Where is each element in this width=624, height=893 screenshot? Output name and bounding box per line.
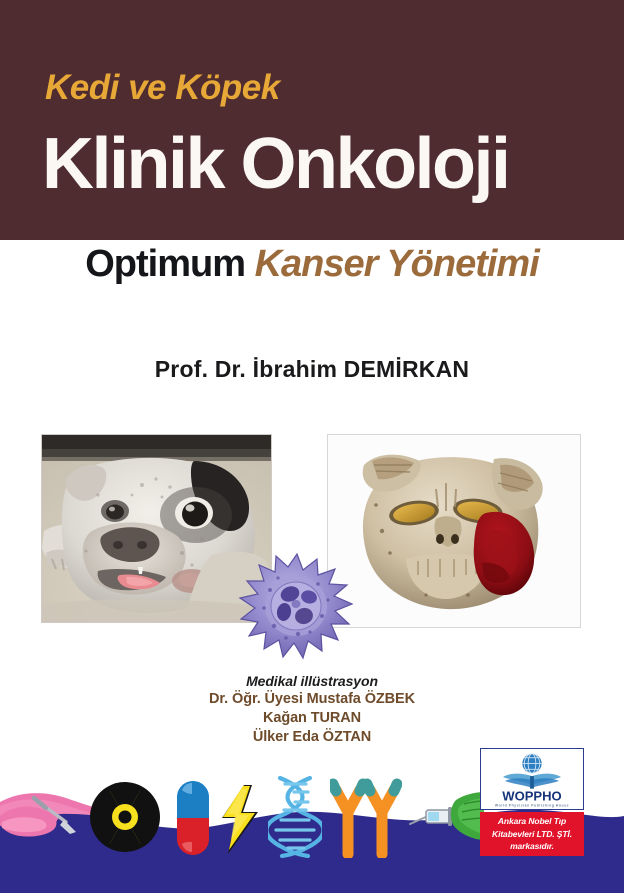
- cat-ct-photo: [327, 434, 581, 628]
- gloved-hand-syringe-icon: [404, 786, 484, 846]
- cover-subtitle-part1: Optimum: [85, 243, 245, 285]
- publisher-banner-line-3: markasıdır.: [480, 840, 584, 853]
- cover-subtitle-part2: Kanser Yönetimi: [255, 243, 539, 285]
- author-name: Prof. Dr. İbrahim DEMİRKAN: [0, 356, 624, 383]
- book-cover: Kedi ve Köpek Klinik Onkoloji Optimum Ka…: [0, 0, 624, 893]
- pill-capsule-icon: [176, 780, 210, 856]
- publisher-tagline: World Physician Publishing House: [495, 804, 569, 808]
- publisher-banner: Ankara Nobel Tıp Kitabevleri LTD. ŞTİ. m…: [480, 812, 584, 856]
- cancer-cell-illustration: [238, 550, 356, 668]
- cover-kicker: Kedi ve Köpek: [45, 68, 280, 108]
- publisher-banner-line-1: Ankara Nobel Tıp: [480, 815, 584, 828]
- credits-name-2: Kağan TURAN: [0, 709, 624, 728]
- publisher-wordmark: WOPPHO: [502, 788, 561, 803]
- credits-name-1: Dr. Öğr. Üyesi Mustafa ÖZBEK: [0, 690, 624, 709]
- dna-helix-icon: [268, 776, 322, 858]
- credits-name-3: Ülker Eda ÖZTAN: [0, 728, 624, 747]
- page-title: Klinik Onkoloji: [42, 128, 509, 200]
- illustration-credits: Medikal illüstrasyon Dr. Öğr. Üyesi Must…: [0, 672, 624, 747]
- publisher-logo: WOPPHO World Physician Publishing House: [480, 748, 584, 810]
- header-band: [0, 0, 624, 240]
- credits-heading: Medikal illüstrasyon: [0, 672, 624, 690]
- antibody-icon: [330, 778, 402, 858]
- cover-subtitle: Optimum Kanser Yönetimi: [0, 243, 624, 286]
- surgery-hand-scalpel-icon: [0, 792, 92, 842]
- lightning-bolt-icon: [218, 784, 262, 856]
- radiation-icon: [90, 782, 160, 852]
- publisher-banner-line-2: Kitabevleri LTD. ŞTİ.: [480, 828, 584, 841]
